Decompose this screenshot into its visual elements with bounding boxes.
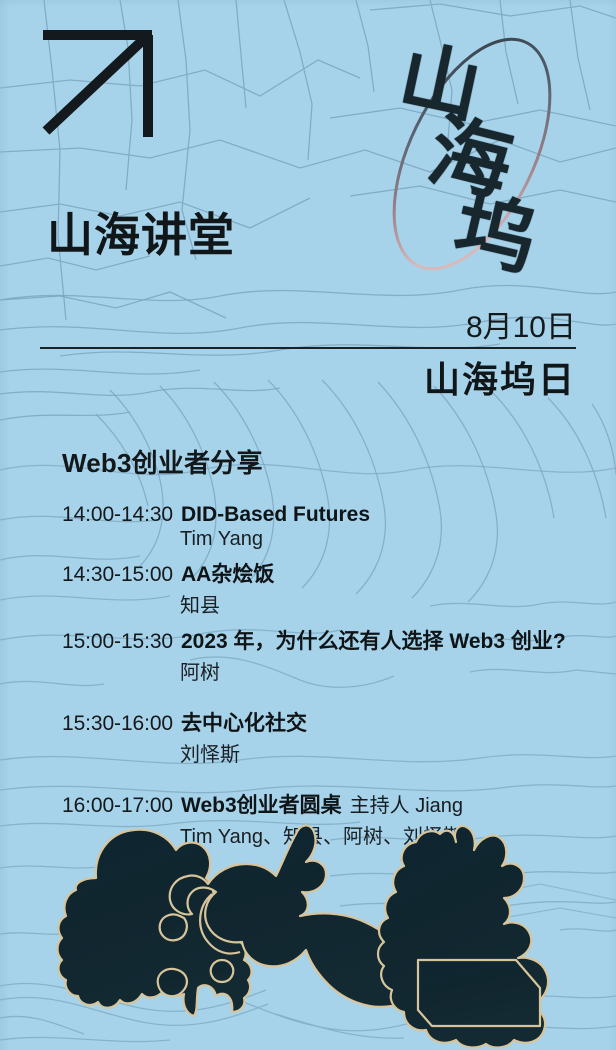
slot-time: 14:30-15:00 (62, 563, 173, 587)
slot-title: Web3创业者圆桌 (181, 789, 342, 819)
page-title: 山海讲堂 (47, 212, 235, 258)
poster: 山 海 坞 山海讲堂 8月10日 山海坞日 Web3创业者分享 14:00-14… (0, 0, 616, 1050)
slot-speakers: 知县 (180, 589, 602, 618)
slot-host: 主持人 Jiang (350, 789, 463, 818)
event-date: 8月10日 (276, 312, 576, 344)
creature-silhouette-right (378, 826, 548, 1048)
schedule-section-title: Web3创业者分享 (62, 443, 263, 480)
schedule-item: 15:30-16:00 去中心化社交 刘怿斯 (62, 707, 602, 767)
slot-time: 16:00-17:00 (62, 794, 173, 818)
brand-seal: 山 海 坞 (360, 26, 585, 281)
slot-title: 2023 年，为什么还有人选择 Web3 创业? (181, 625, 566, 655)
slot-speakers: Tim Yang (180, 528, 602, 551)
header-divider (40, 347, 576, 349)
schedule-item: 14:00-14:30 DID-Based Futures Tim Yang (62, 503, 602, 551)
slot-time: 15:00-15:30 (62, 630, 173, 654)
date-block: 8月10日 (276, 312, 576, 344)
slot-title: DID-Based Futures (181, 503, 370, 527)
slot-title: AA杂烩饭 (181, 558, 274, 588)
schedule-item: 14:30-15:00 AA杂烩饭 知县 (62, 558, 602, 618)
slot-time: 14:00-14:30 (62, 503, 173, 527)
slot-title: 去中心化社交 (181, 707, 307, 737)
slot-time: 15:30-16:00 (62, 712, 173, 736)
slot-speakers: 阿树 (180, 656, 602, 685)
slot-speakers: 刘怿斯 (180, 738, 602, 767)
schedule-item: 15:00-15:30 2023 年，为什么还有人选择 Web3 创业? 阿树 (62, 625, 602, 685)
schedule-list: 14:00-14:30 DID-Based Futures Tim Yang 1… (62, 503, 602, 856)
event-day-label: 山海坞日 (424, 360, 576, 400)
seal-character-3: 坞 (447, 187, 544, 281)
creature-silhouettes-group (0, 820, 616, 1050)
arrow-up-right-mark-icon (40, 27, 160, 142)
